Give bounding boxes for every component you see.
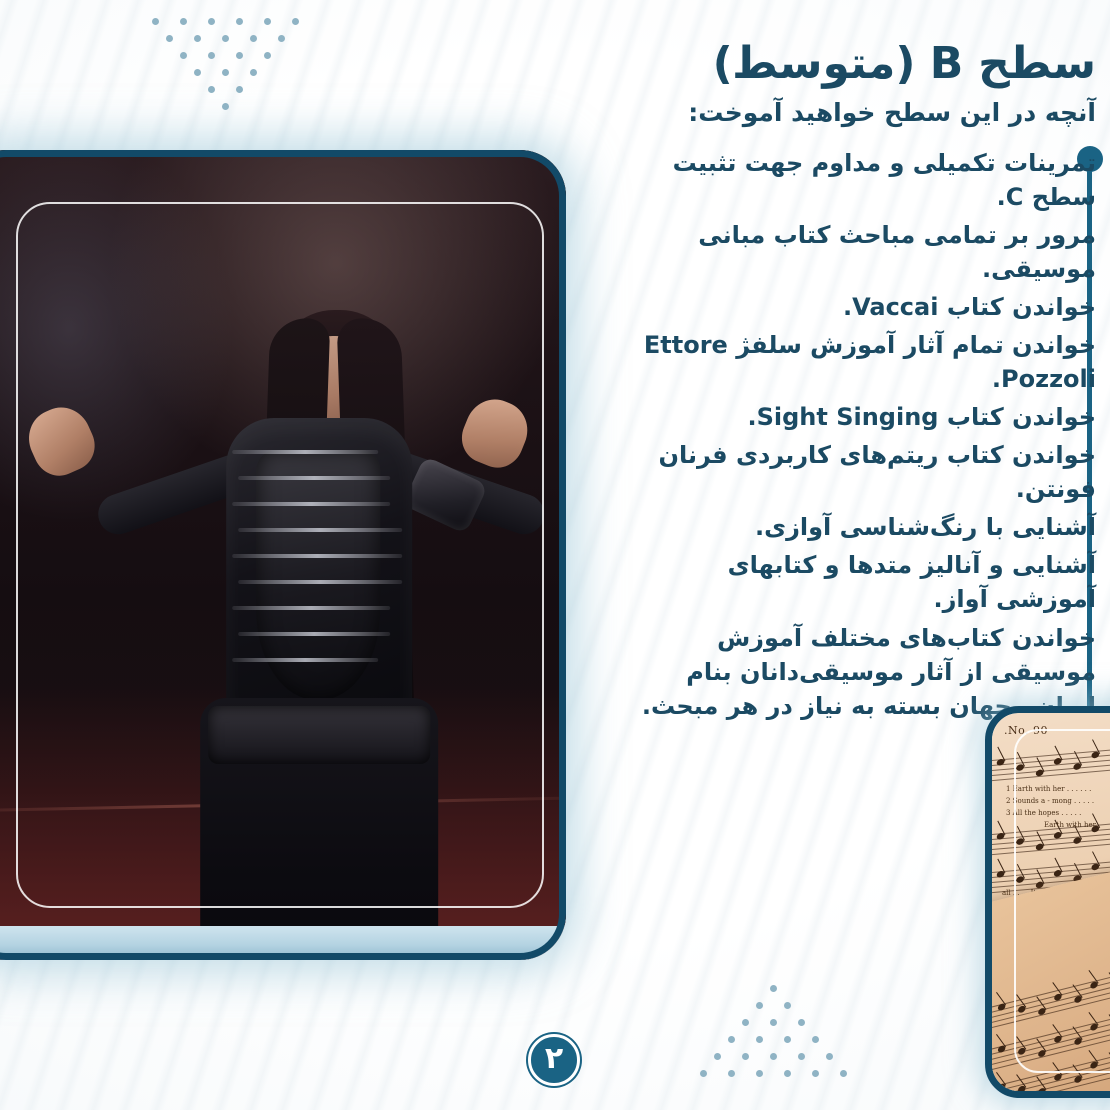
music-note (1037, 1087, 1047, 1097)
decorative-dot (250, 35, 257, 42)
decorative-dot (236, 52, 243, 59)
costume-stud-row (238, 632, 390, 636)
music-note (996, 870, 1006, 879)
decorative-dot (812, 1070, 819, 1077)
content-column: سطح B (متوسط) آنچه در این سطح خواهید آمو… (626, 36, 1096, 727)
costume-stud-row (232, 658, 378, 662)
decorative-dot (840, 1070, 847, 1077)
decorative-dot (756, 1036, 763, 1043)
decorative-dot (208, 86, 215, 93)
decorative-dot (812, 1036, 819, 1043)
sheet-music-lyric-line: Earth with her (1044, 821, 1096, 829)
decorative-dot (700, 1070, 707, 1077)
decorative-dot (152, 18, 159, 25)
page-subtitle: آنچه در این سطح خواهید آموخت: (626, 97, 1096, 130)
decorative-dot (180, 52, 187, 59)
costume-stud-row (232, 502, 390, 506)
poster-page: سطح B (متوسط) آنچه در این سطح خواهید آمو… (0, 0, 1110, 1110)
dot-pattern-bottom-right (700, 985, 880, 1090)
decorative-dot (798, 1053, 805, 1060)
decorative-dot (742, 1053, 749, 1060)
decorative-dot (180, 18, 187, 25)
decorative-dot (714, 1053, 721, 1060)
sheet-music-lyric-line: 2 Sounds a - mong . . . . . (1006, 797, 1094, 805)
decorative-dot (728, 1070, 735, 1077)
decorative-dot (798, 1019, 805, 1026)
music-note (1091, 862, 1101, 871)
decorative-dot (784, 1002, 791, 1009)
learning-outcome-item: آشنایی و آنالیز متدها و کتابهای آموزشی آ… (626, 548, 1096, 616)
decorative-dot (770, 1053, 777, 1060)
decorative-dot (194, 69, 201, 76)
decorative-dot (784, 1036, 791, 1043)
decorative-dot (770, 985, 777, 992)
performer-belt (208, 706, 430, 764)
performer-vest (256, 450, 380, 700)
performer-photo-card (0, 150, 566, 960)
decorative-dot (264, 18, 271, 25)
footer-logo-badge: ۲ (528, 1034, 580, 1086)
costume-stud-row (232, 450, 378, 454)
learning-outcome-item: خواندن کتاب Vaccai. (626, 290, 1096, 324)
music-note (996, 832, 1006, 841)
learning-outcome-item: تمرینات تکمیلی و مداوم جهت تثبیت سطح C. (626, 146, 1096, 214)
learning-outcomes-list: تمرینات تکمیلی و مداوم جهت تثبیت سطح C.م… (626, 146, 1096, 723)
costume-stud-row (232, 554, 402, 558)
decorative-dot (222, 103, 229, 110)
costume-stud-row (238, 528, 402, 532)
sheet-music-lyric-line: 3 All the hopes . . . . . (1006, 809, 1081, 817)
sheet-music-number: No. 90. (1004, 724, 1048, 737)
decorative-dot (236, 86, 243, 93)
costume-stud-row (238, 580, 402, 584)
music-note (1016, 763, 1026, 772)
decorative-dot (784, 1070, 791, 1077)
music-note (1073, 762, 1083, 771)
performer-left-hand (19, 398, 102, 484)
music-note (1016, 837, 1026, 846)
sheet-music-lyric-line: 1 Earth with her . . . . . . (1006, 785, 1091, 793)
decorative-dot (292, 18, 299, 25)
decorative-dot (826, 1053, 833, 1060)
footer-logo-text: ۲ (545, 1044, 563, 1074)
decorative-dot (278, 35, 285, 42)
dot-pattern-top-left (152, 18, 332, 118)
decorative-dot (742, 1019, 749, 1026)
learning-outcome-item: مرور بر تمامی مباحث کتاب مبانی موسیقی. (626, 218, 1096, 286)
decorative-dot (166, 35, 173, 42)
performer-right-hand (454, 391, 536, 475)
learning-outcome-item: خواندن تمام آثار آموزش سلفژ Ettore Pozzo… (626, 328, 1096, 396)
decorative-dot (236, 18, 243, 25)
performer-photo (0, 150, 566, 960)
decorative-dot (222, 35, 229, 42)
decorative-dot (264, 52, 271, 59)
decorative-dot (728, 1036, 735, 1043)
decorative-dot (208, 18, 215, 25)
music-note (1073, 836, 1083, 845)
decorative-dot (756, 1002, 763, 1009)
decorative-dot (770, 1019, 777, 1026)
decorative-dot (756, 1070, 763, 1077)
learning-outcome-item: آشنایی با رنگ‌شناسی آوازی. (626, 510, 1096, 544)
page-title: سطح B (متوسط) (626, 36, 1096, 91)
costume-stud-row (238, 476, 390, 480)
sheet-music-card: No. 90. Children's 1 Earth with her . . … (985, 706, 1110, 1098)
music-note (996, 758, 1006, 767)
costume-stud-row (232, 606, 390, 610)
learning-outcome-item: خواندن کتاب Sight Singing. (626, 400, 1096, 434)
music-note (1091, 750, 1101, 759)
learning-outcome-item: خواندن کتاب ریتم‌های کاربردی فرنان فونتن… (626, 438, 1096, 506)
decorative-dot (222, 69, 229, 76)
photo-bottom-band (0, 926, 566, 960)
decorative-dot (250, 69, 257, 76)
music-note (1016, 875, 1026, 884)
decorative-dot (194, 35, 201, 42)
decorative-dot (208, 52, 215, 59)
